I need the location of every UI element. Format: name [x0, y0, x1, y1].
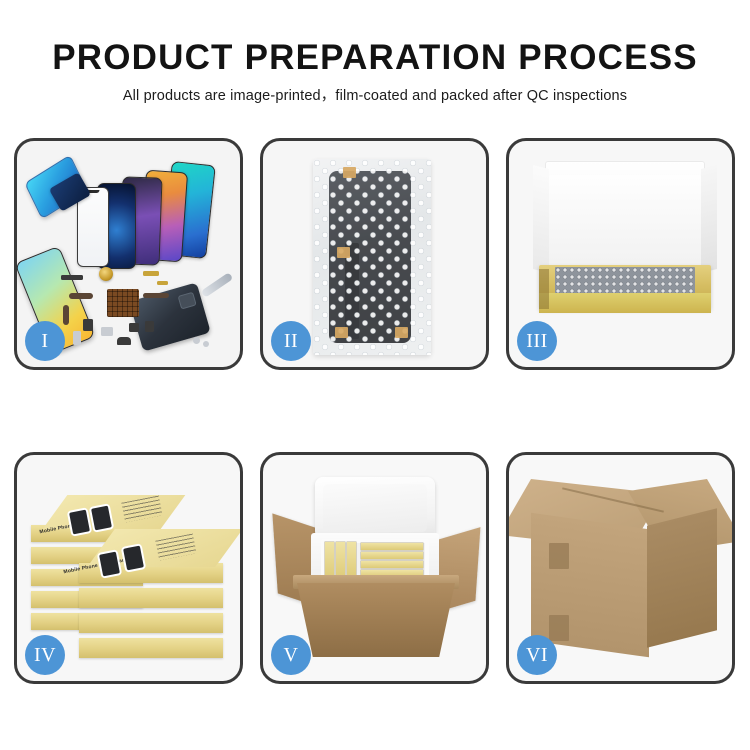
step-badge-1: I	[25, 321, 65, 361]
process-step-panel-3[interactable]: III	[506, 138, 735, 370]
process-step-grid: I II	[14, 138, 736, 684]
process-step-panel-1[interactable]: I	[14, 138, 243, 370]
step-badge-5: V	[271, 635, 311, 675]
process-step-panel-6[interactable]: VI	[506, 452, 735, 684]
product-preparation-process-page: PRODUCT PREPARATION PROCESS All products…	[0, 0, 750, 750]
process-step-panel-2[interactable]: II	[260, 138, 489, 370]
page-title: PRODUCT PREPARATION PROCESS	[0, 40, 750, 75]
process-step-panel-4[interactable]: Mobile Phone Spare Parts Mobile Phone Sp…	[14, 452, 243, 684]
process-step-panel-5[interactable]: V	[260, 452, 489, 684]
page-subtitle: All products are image-printed，film-coat…	[0, 89, 750, 104]
step-badge-2: II	[271, 321, 311, 361]
header: PRODUCT PREPARATION PROCESS All products…	[0, 40, 750, 104]
step-badge-6: VI	[517, 635, 557, 675]
step-badge-4: IV	[25, 635, 65, 675]
step-badge-3: III	[517, 321, 557, 361]
